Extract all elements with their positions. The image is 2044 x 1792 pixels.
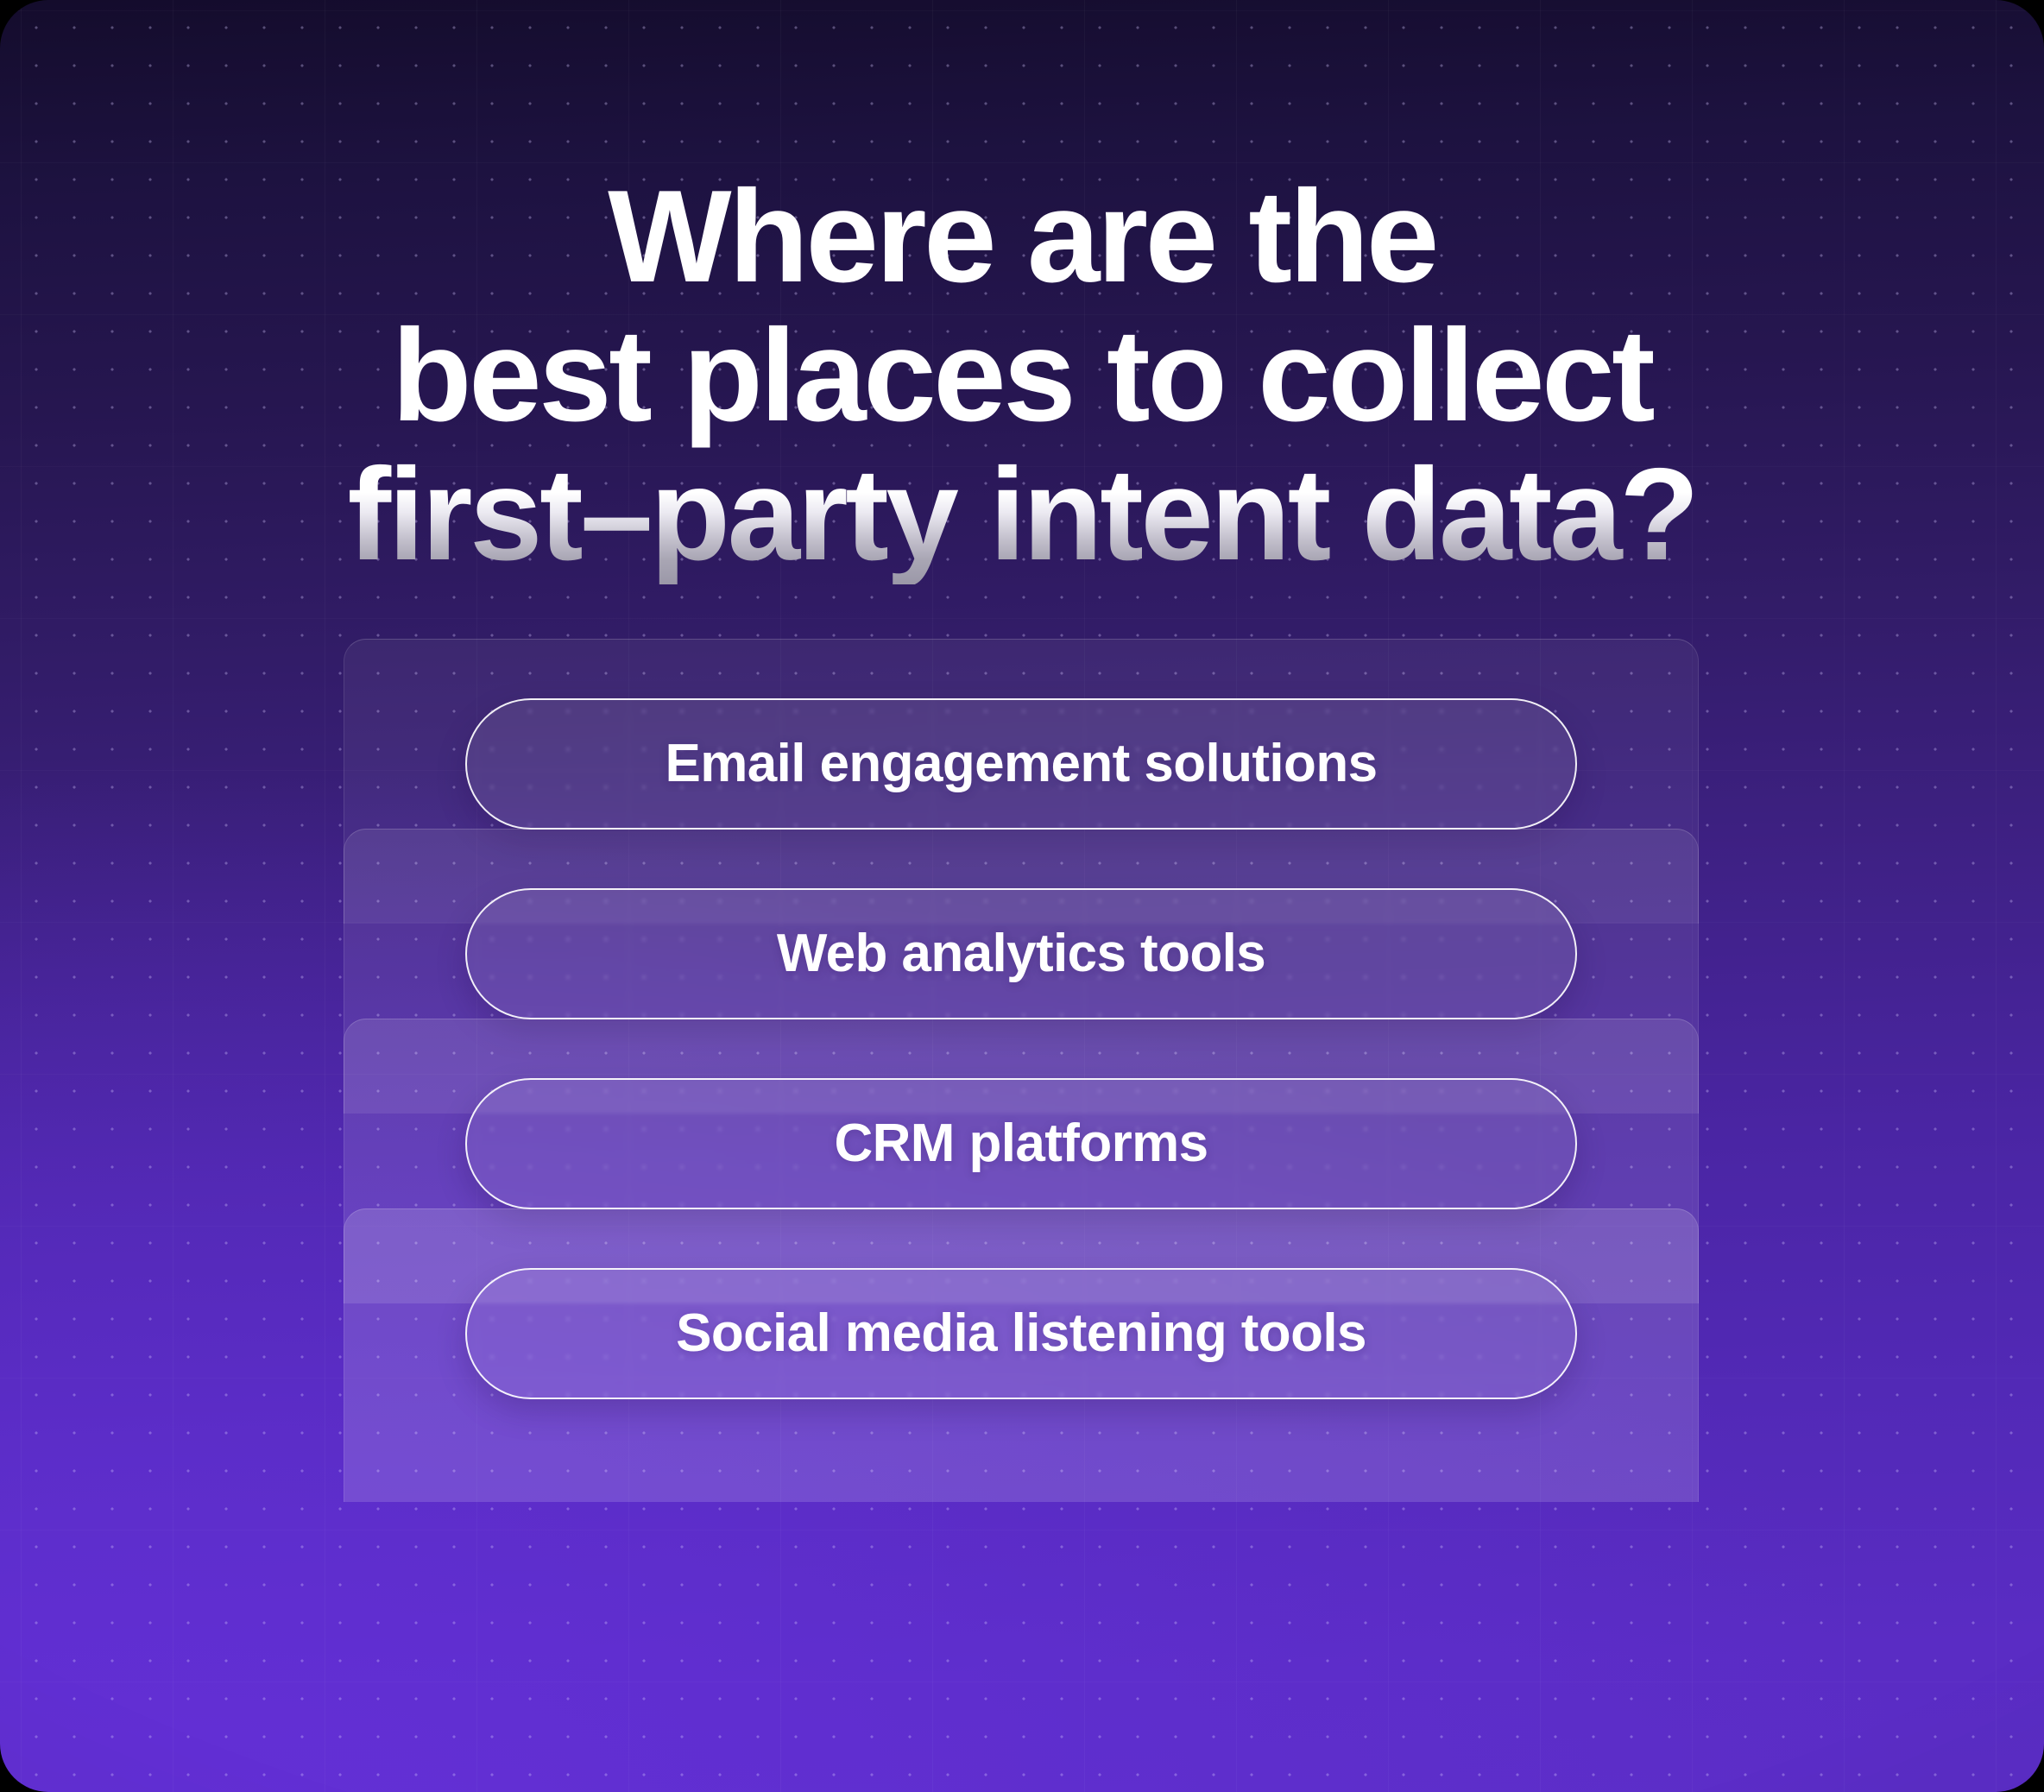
option-label: Social media listening tools [676, 1307, 1366, 1360]
option-label: Web analytics tools [777, 927, 1265, 981]
option-label: CRM platforms [834, 1117, 1208, 1170]
slide-canvas: Where are the best places to collect fir… [0, 0, 2044, 1792]
option-pill-web-analytics-tools[interactable]: Web analytics tools [465, 888, 1577, 1019]
headline-line-3: first–party intent data? [0, 445, 2044, 584]
headline-line-1: Where are the [0, 167, 2044, 306]
option-pill-crm-platforms[interactable]: CRM platforms [465, 1078, 1577, 1209]
option-card-4[interactable]: Social media listening tools [344, 1208, 1699, 1502]
option-label: Email engagement solutions [665, 737, 1377, 791]
option-pill-email-engagement-solutions[interactable]: Email engagement solutions [465, 698, 1577, 830]
option-pill-social-media-listening-tools[interactable]: Social media listening tools [465, 1268, 1577, 1399]
option-card-deck: Email engagement solutions Web analytics… [344, 639, 1699, 1502]
headline-line-2: best places to collect [0, 306, 2044, 445]
page-title: Where are the best places to collect fir… [0, 167, 2044, 584]
